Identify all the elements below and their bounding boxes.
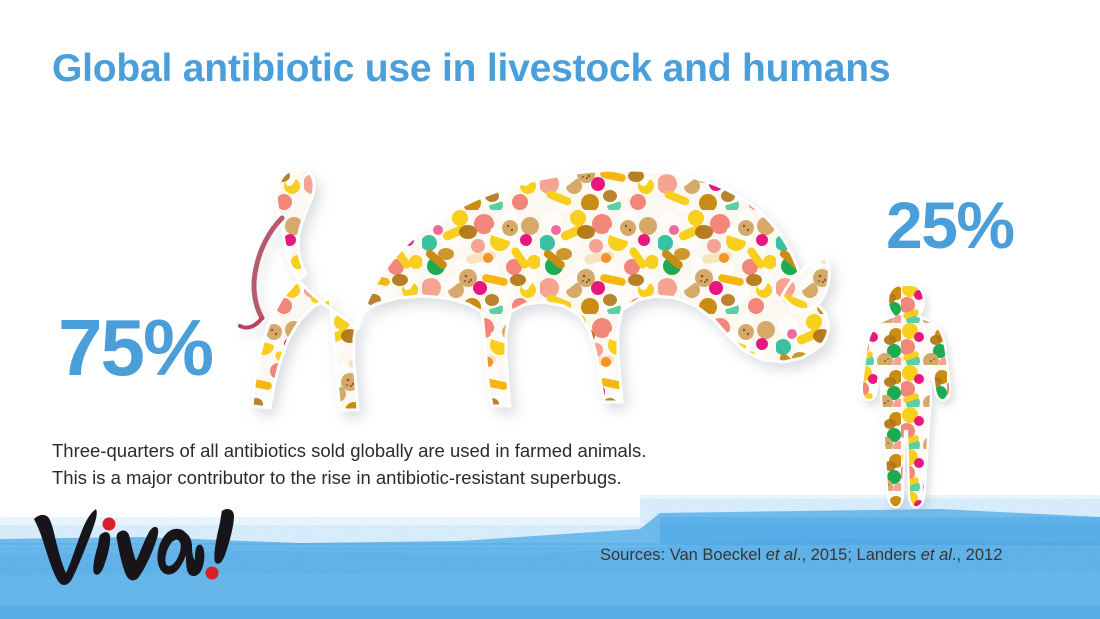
body-copy-line-1: Three-quarters of all antibiotics sold g… [52,437,646,464]
human-body [862,285,951,507]
sources-prefix: Sources: Van Boeckel [600,546,766,564]
human-pictogram [855,281,967,518]
poster-canvas: Global antibiotic use in livestock and h… [0,0,1100,619]
body-copy-line-2: This is a major contributor to the rise … [52,464,646,491]
logo-dot-lower [206,567,219,580]
sources-line: Sources: Van Boeckel et al., 2015; Lande… [600,546,1002,565]
page-title: Global antibiotic use in livestock and h… [52,48,890,91]
sources-mid: ., 2015; Landers [797,546,921,564]
viva-logo[interactable] [26,503,256,588]
sources-italic-1: et al [766,546,797,564]
viva-wordmark-strokes [34,509,234,585]
livestock-pig-pictogram [186,106,851,431]
body-copy: Three-quarters of all antibiotics sold g… [52,437,646,491]
logo-dot-upper [103,518,116,531]
pig-body [240,168,829,410]
sources-italic-2: et al [921,546,952,564]
stat-humans-percent: 25% [886,192,1014,258]
sources-suffix: ., 2012 [952,546,1002,564]
